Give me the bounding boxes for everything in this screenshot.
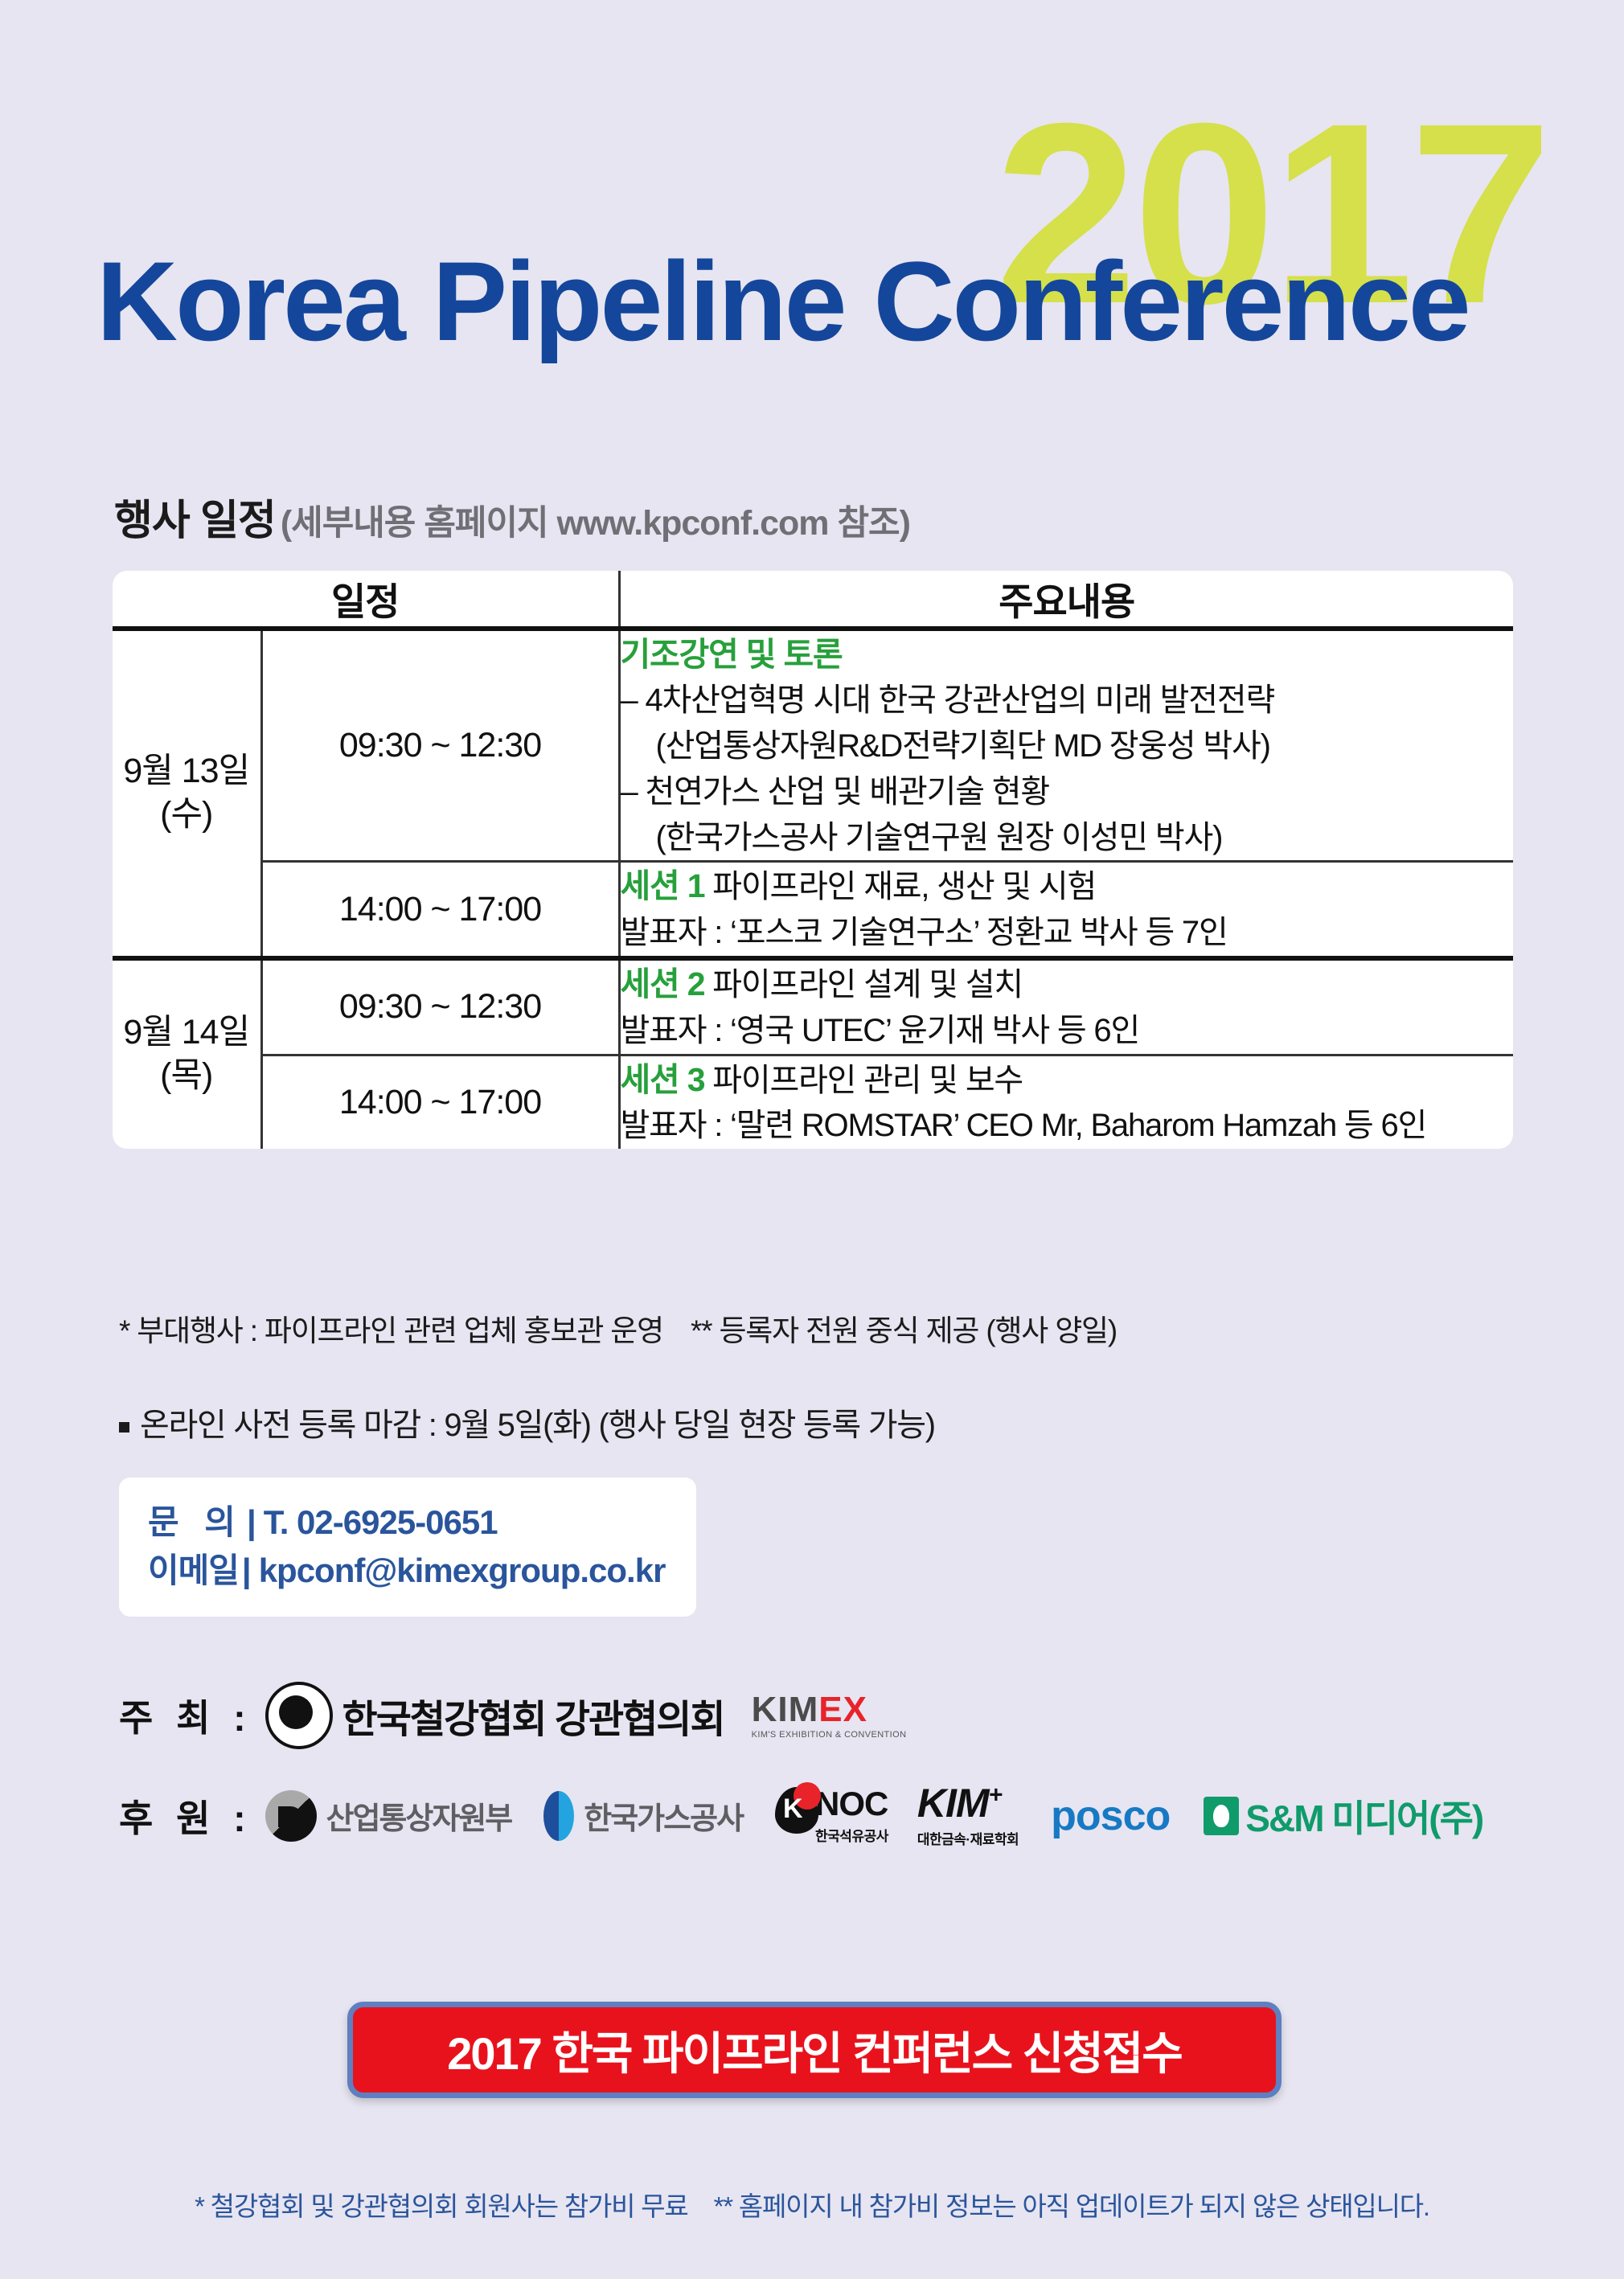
host-label: 주 최 : — [119, 1689, 252, 1742]
kogas-icon — [543, 1791, 574, 1841]
schedule-heading-main: 행사 일정 — [114, 498, 276, 544]
time-cell: 09:30 ~ 12:30 — [261, 629, 619, 862]
host-name: 한국철강협회 강관협의회 — [342, 1687, 724, 1744]
sm-media-icon — [1204, 1797, 1239, 1835]
table-row: 14:00 ~ 17:00 세션 1 파이프라인 재료, 생산 및 시험 발표자… — [113, 862, 1513, 958]
sm-media-logo: S&M 미디어(주) — [1204, 1789, 1483, 1842]
sponsor-sm-name: S&M 미디어(주) — [1245, 1789, 1483, 1842]
sponsor-kim-sub: 대한금속·재료학회 — [917, 1828, 1019, 1848]
date-cell-day2: 9월 14일 (목) — [113, 958, 261, 1149]
footnote-lunch: ** 등록자 전원 중식 제공 (행사 양일) — [691, 1314, 1117, 1347]
column-header-date: 일정 — [113, 571, 619, 629]
registration-button[interactable]: 2017 한국 파이프라인 컨퍼런스 신청접수 — [347, 2002, 1282, 2098]
time-cell: 09:30 ~ 12:30 — [261, 958, 619, 1055]
kimex-accent: EX — [818, 1690, 867, 1729]
kimex-tagline: KIM'S EXHIBITION & CONVENTION — [752, 1731, 907, 1740]
kimex-main: KIM — [752, 1690, 819, 1729]
registration-button-label: 2017 한국 파이프라인 컨퍼런스 신청접수 — [447, 2018, 1182, 2083]
square-bullet-icon — [119, 1422, 129, 1433]
footnote-side-event: * 부대행사 : 파이프라인 관련 업체 홍보관 운영 — [119, 1314, 663, 1347]
content-cell: 세션 2 파이프라인 설계 및 설치 발표자 : ‘영국 UTEC’ 윤기재 박… — [619, 958, 1513, 1055]
time-cell: 14:00 ~ 17:00 — [261, 862, 619, 958]
table-header-row: 일정 주요내용 — [113, 571, 1513, 629]
kimex-logo: KIMEX KIM'S EXHIBITION & CONVENTION — [752, 1692, 907, 1740]
registration-deadline: 온라인 사전 등록 마감 : 9월 5일(화) (행사 당일 현장 등록 가능) — [119, 1399, 935, 1445]
sponsor-motie-name: 산업통상자원부 — [326, 1793, 512, 1838]
date-line-2: (목) — [113, 1055, 260, 1098]
table-row: 9월 13일 (수) 09:30 ~ 12:30 기조강연 및 토론 – 4차산… — [113, 629, 1513, 862]
knoc-text: NOC 한국석유공사 — [815, 1787, 888, 1845]
table-footnotes: * 부대행사 : 파이프라인 관련 업체 홍보관 운영** 등록자 전원 중식 … — [119, 1306, 1117, 1350]
motie-taegeuk-icon — [265, 1790, 317, 1842]
poster-footer: * 철강협회 및 강관협의회 회원사는 참가비 무료** 홈페이지 내 참가비 … — [0, 2185, 1624, 2224]
session-line: 세션 1 파이프라인 재료, 생산 및 시험 — [621, 863, 1513, 910]
session-label: 기조강연 및 토론 — [621, 631, 1513, 678]
knoc-logo: NOC 한국석유공사 — [775, 1787, 888, 1845]
kim-logo: KIM+ 대한금속·재료학회 — [917, 1783, 1019, 1848]
session-line: 세션 2 파이프라인 설계 및 설치 — [621, 961, 1513, 1008]
session-topic: 파이프라인 설계 및 설치 — [712, 967, 1023, 1002]
column-header-content: 주요내용 — [619, 571, 1513, 629]
presenter-line: 발표자 : ‘영국 UTEC’ 윤기재 박사 등 6인 — [621, 1008, 1513, 1054]
sponsor-kogas-name: 한국가스공사 — [584, 1793, 743, 1838]
footer-note-1: * 철강협회 및 강관협의회 회원사는 참가비 무료 — [195, 2191, 688, 2221]
session-topic: 파이프라인 관리 및 보수 — [712, 1063, 1023, 1098]
sponsor-knoc-sub: 한국석유공사 — [815, 1825, 888, 1845]
sponsor-row: 후 원 : 산업통상자원부 한국가스공사 NOC 한국석유공사 KIM+ 대한금… — [119, 1783, 1483, 1848]
table-row: 9월 14일 (목) 09:30 ~ 12:30 세션 2 파이프라인 설계 및… — [113, 958, 1513, 1055]
schedule-table-container: 일정 주요내용 9월 13일 (수) 09:30 ~ 12:30 기조강연 및 … — [113, 571, 1513, 1149]
host-row: 주 최 : 한국철강협회 강관협의회 KIMEX KIM'S EXHIBITIO… — [119, 1682, 906, 1749]
schedule-heading: 행사 일정(세부내용 홈페이지 www.kpconf.com 참조) — [114, 486, 910, 547]
date-line-2: (수) — [113, 793, 260, 837]
date-line-1: 9월 14일 — [113, 1011, 260, 1055]
posco-logo: posco — [1051, 1792, 1170, 1840]
table-row: 14:00 ~ 17:00 세션 3 파이프라인 관리 및 보수 발표자 : ‘… — [113, 1055, 1513, 1149]
kim-wordmark: KIM — [917, 1781, 989, 1826]
date-cell-day1: 9월 13일 (수) — [113, 629, 261, 958]
schedule-table: 일정 주요내용 9월 13일 (수) 09:30 ~ 12:30 기조강연 및 … — [113, 571, 1513, 1149]
presenter-line: 발표자 : ‘포스코 기술연구소’ 정환교 박사 등 7인 — [621, 910, 1513, 956]
contact-separator: | — [247, 1503, 256, 1541]
schedule-heading-sub: (세부내용 홈페이지 www.kpconf.com 참조) — [281, 504, 910, 543]
sponsor-kim-name: KIM+ — [917, 1783, 1019, 1823]
content-line: (산업통상자원R&D전략기획단 MD 장웅성 박사) — [621, 723, 1513, 769]
poster-header: 2017 Korea Pipeline Conference — [0, 0, 1624, 426]
session-line: 세션 3 파이프라인 관리 및 보수 — [621, 1056, 1513, 1104]
contact-box: 문 의|T. 02-6925-0651 이메일|kpconf@kimexgrou… — [119, 1478, 696, 1617]
time-cell: 14:00 ~ 17:00 — [261, 1055, 619, 1149]
content-cell: 기조강연 및 토론 – 4차산업혁명 시대 한국 강관산업의 미래 발전전략 (… — [619, 629, 1513, 862]
sponsor-label: 후 원 : — [119, 1789, 252, 1842]
kosa-seal-icon — [265, 1682, 333, 1749]
content-cell: 세션 3 파이프라인 관리 및 보수 발표자 : ‘말련 ROMSTAR’ CE… — [619, 1055, 1513, 1149]
content-cell: 세션 1 파이프라인 재료, 생산 및 시험 발표자 : ‘포스코 기술연구소’… — [619, 862, 1513, 958]
contact-email-value[interactable]: kpconf@kimexgroup.co.kr — [259, 1551, 666, 1589]
footer-note-2: ** 홈페이지 내 참가비 정보는 아직 업데이트가 되지 않은 상태입니다. — [714, 2191, 1429, 2221]
contact-separator: | — [242, 1551, 251, 1589]
contact-phone-row: 문 의|T. 02-6925-0651 — [148, 1498, 696, 1547]
knoc-icon — [775, 1787, 818, 1834]
content-line: – 4차산업혁명 시대 한국 강관산업의 미래 발전전략 — [621, 678, 1513, 723]
session-label: 세션 2 — [621, 965, 705, 1002]
kim-plus-icon: + — [989, 1781, 1003, 1808]
session-label: 세션 3 — [621, 1061, 705, 1098]
kimex-wordmark: KIMEX — [752, 1692, 907, 1728]
contact-phone-label: 문 의 — [148, 1503, 244, 1541]
content-line: – 천연가스 산업 및 배관기술 현황 — [621, 769, 1513, 815]
contact-email-row: 이메일|kpconf@kimexgroup.co.kr — [148, 1547, 696, 1595]
sponsor-knoc-name: NOC — [815, 1787, 888, 1821]
session-label: 세션 1 — [621, 867, 705, 904]
page-title: Korea Pipeline Conference — [96, 245, 1469, 358]
contact-email-label: 이메일 — [148, 1551, 239, 1589]
presenter-line: 발표자 : ‘말련 ROMSTAR’ CEO Mr, Baharom Hamza… — [621, 1103, 1513, 1149]
date-line-1: 9월 13일 — [113, 750, 260, 793]
session-topic: 파이프라인 재료, 생산 및 시험 — [712, 869, 1096, 904]
content-line: (한국가스공사 기술연구원 원장 이성민 박사) — [621, 815, 1513, 861]
registration-deadline-text: 온라인 사전 등록 마감 : 9월 5일(화) (행사 당일 현장 등록 가능) — [140, 1408, 935, 1443]
contact-phone-value[interactable]: T. 02-6925-0651 — [264, 1503, 498, 1541]
